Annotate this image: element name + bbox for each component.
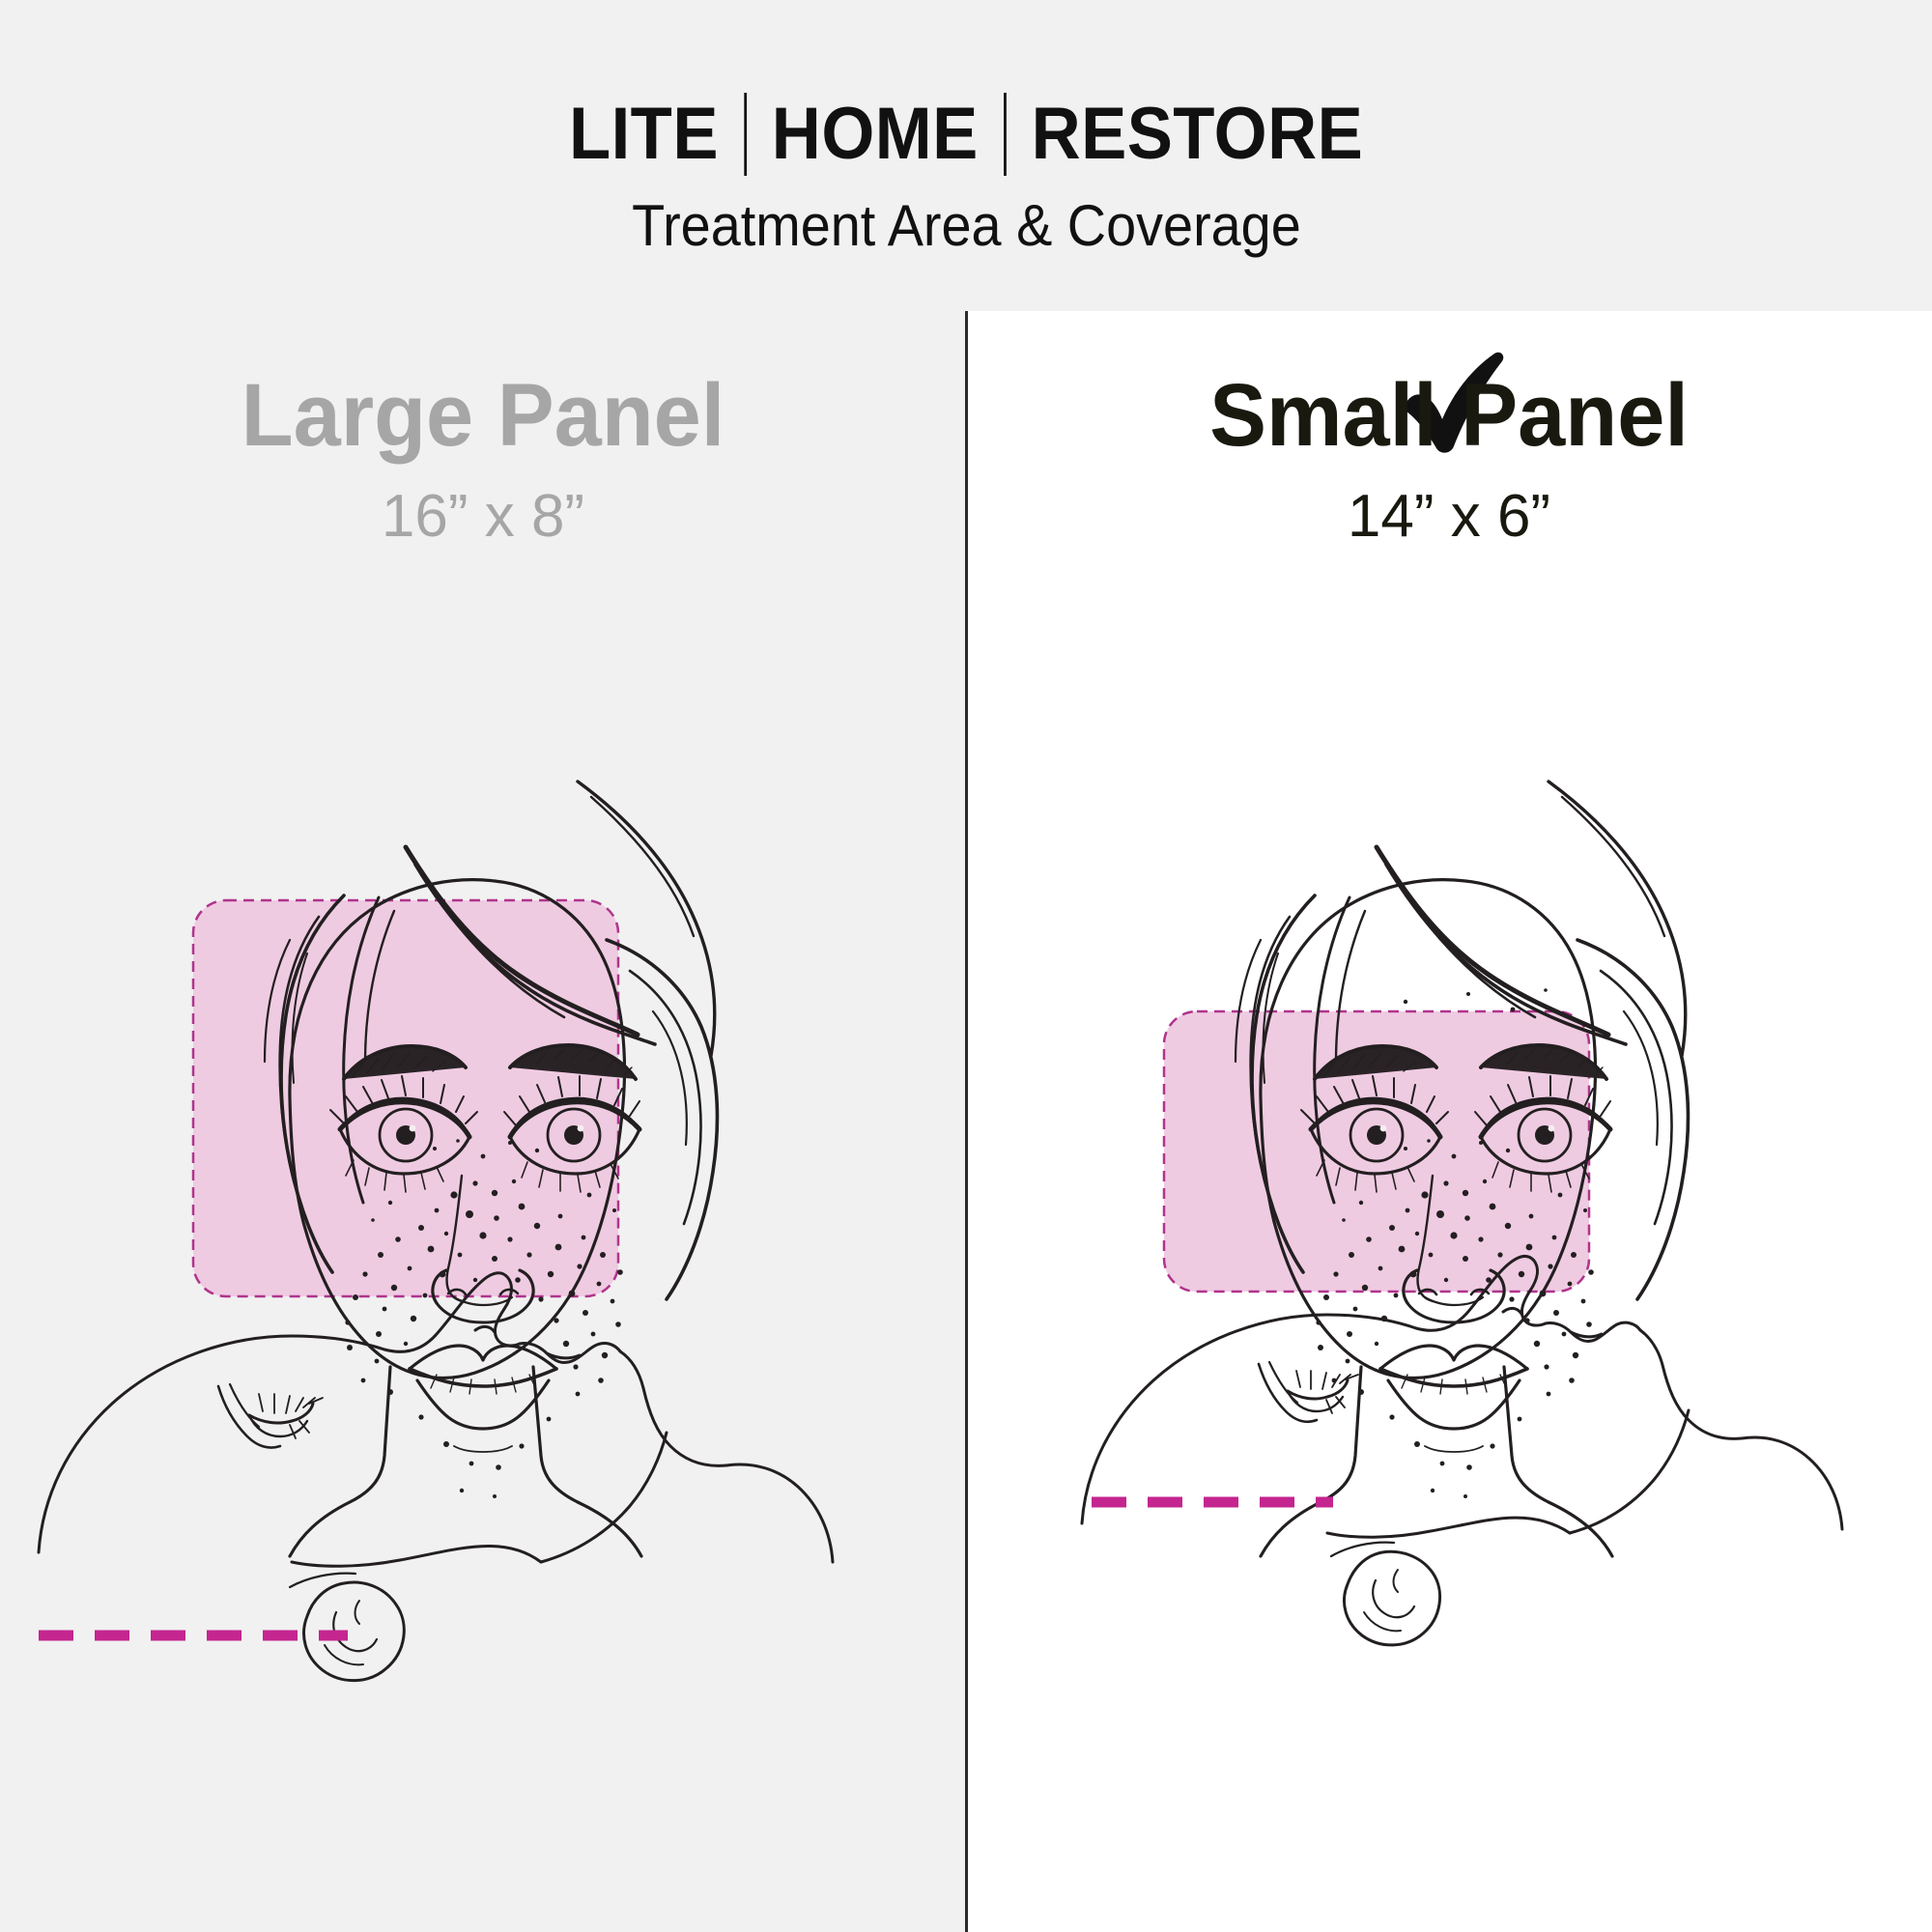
infographic-canvas: LITE HOME RESTORE Treatment Area & Cover…: [0, 0, 1932, 1932]
panel-large: Large Panel 16” x 8”: [0, 311, 966, 1932]
brand-word-lite: LITE: [567, 98, 721, 171]
header: LITE HOME RESTORE Treatment Area & Cover…: [0, 0, 1932, 311]
brand-separator-1: [744, 93, 747, 176]
brand-word-home: HOME: [770, 98, 980, 171]
panel-illustration-small: [966, 557, 1932, 1910]
profile-head-line-art-large: [39, 1273, 833, 1681]
panel-size-small: 14” x 6”: [966, 485, 1932, 549]
brand-separator-2: [1004, 93, 1007, 176]
panel-illustration-large: [0, 557, 966, 1910]
panel-small: Small Panel 14” x 6”: [966, 311, 1932, 1932]
profile-head-line-art-small: [1082, 1256, 1842, 1644]
panel-title-small: Small Panel: [985, 369, 1913, 462]
panel-size-large: 16” x 8”: [0, 485, 966, 549]
brand-lockup: LITE HOME RESTORE: [567, 93, 1365, 176]
header-subtitle: Treatment Area & Coverage: [632, 197, 1301, 255]
brand-word-restore: RESTORE: [1030, 98, 1365, 171]
panel-title-large: Large Panel: [19, 369, 947, 462]
